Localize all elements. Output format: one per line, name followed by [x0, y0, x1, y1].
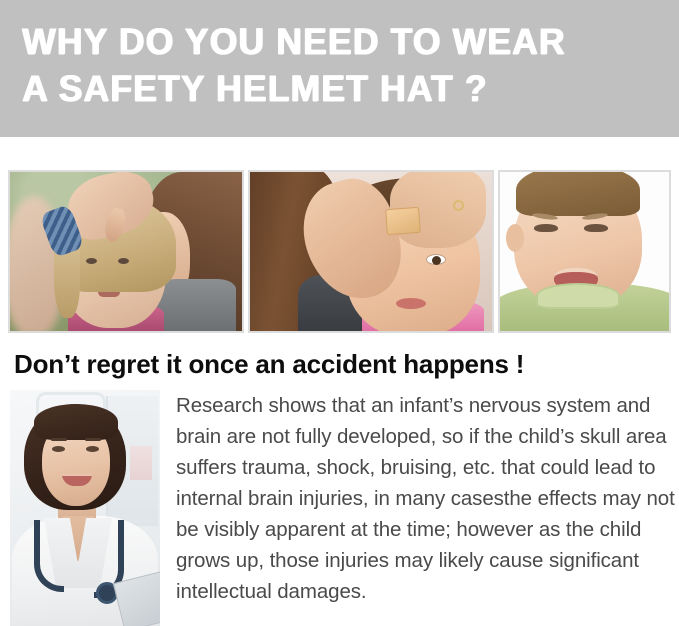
doctor-left-brow — [51, 438, 67, 441]
photo-3-scene — [500, 172, 669, 331]
header-banner: WHY DO YOU NEED TO WEAR A SAFETY HELMET … — [0, 0, 679, 137]
girl-left-eye — [86, 258, 97, 264]
child-right-pupil — [432, 256, 441, 265]
doctor-hair-fringe — [34, 404, 118, 440]
adhesive-bandage — [385, 207, 421, 235]
doctor-left-eye — [52, 446, 65, 452]
photo-girl-with-hand-on-head — [8, 170, 244, 333]
doctor-right-brow — [85, 438, 101, 441]
bottom-section: Research shows that an infant’s nervous … — [0, 390, 679, 626]
child-mouth — [396, 298, 426, 309]
photo-crying-toddler — [498, 170, 671, 333]
subheading: Don’t regret it once an accident happens… — [14, 348, 674, 380]
body-paragraph: Research shows that an infant’s nervous … — [176, 390, 676, 607]
toddler-hair — [516, 172, 640, 216]
toddler-left-eye — [534, 224, 558, 232]
headline-line-1: WHY DO YOU NEED TO WEAR — [22, 18, 653, 65]
wedding-ring — [453, 200, 464, 211]
girl-right-eye — [118, 258, 129, 264]
photo-smiling-female-doctor — [10, 390, 160, 626]
toddler-ear — [506, 224, 524, 252]
toddler-right-eye — [584, 224, 608, 232]
girl-mouth — [98, 292, 120, 297]
product-infographic-page: WHY DO YOU NEED TO WEAR A SAFETY HELMET … — [0, 0, 679, 626]
photo-2-scene — [250, 172, 492, 331]
doctor-right-eye — [86, 446, 99, 452]
toddler-shirt-collar — [536, 283, 620, 309]
headline-line-2: A SAFETY HELMET HAT ? — [22, 65, 653, 112]
background-chart — [130, 446, 152, 480]
photo-strip — [8, 170, 671, 333]
photo-1-scene — [10, 172, 242, 331]
photo-mother-kissing-bandaged-forehead — [248, 170, 494, 333]
